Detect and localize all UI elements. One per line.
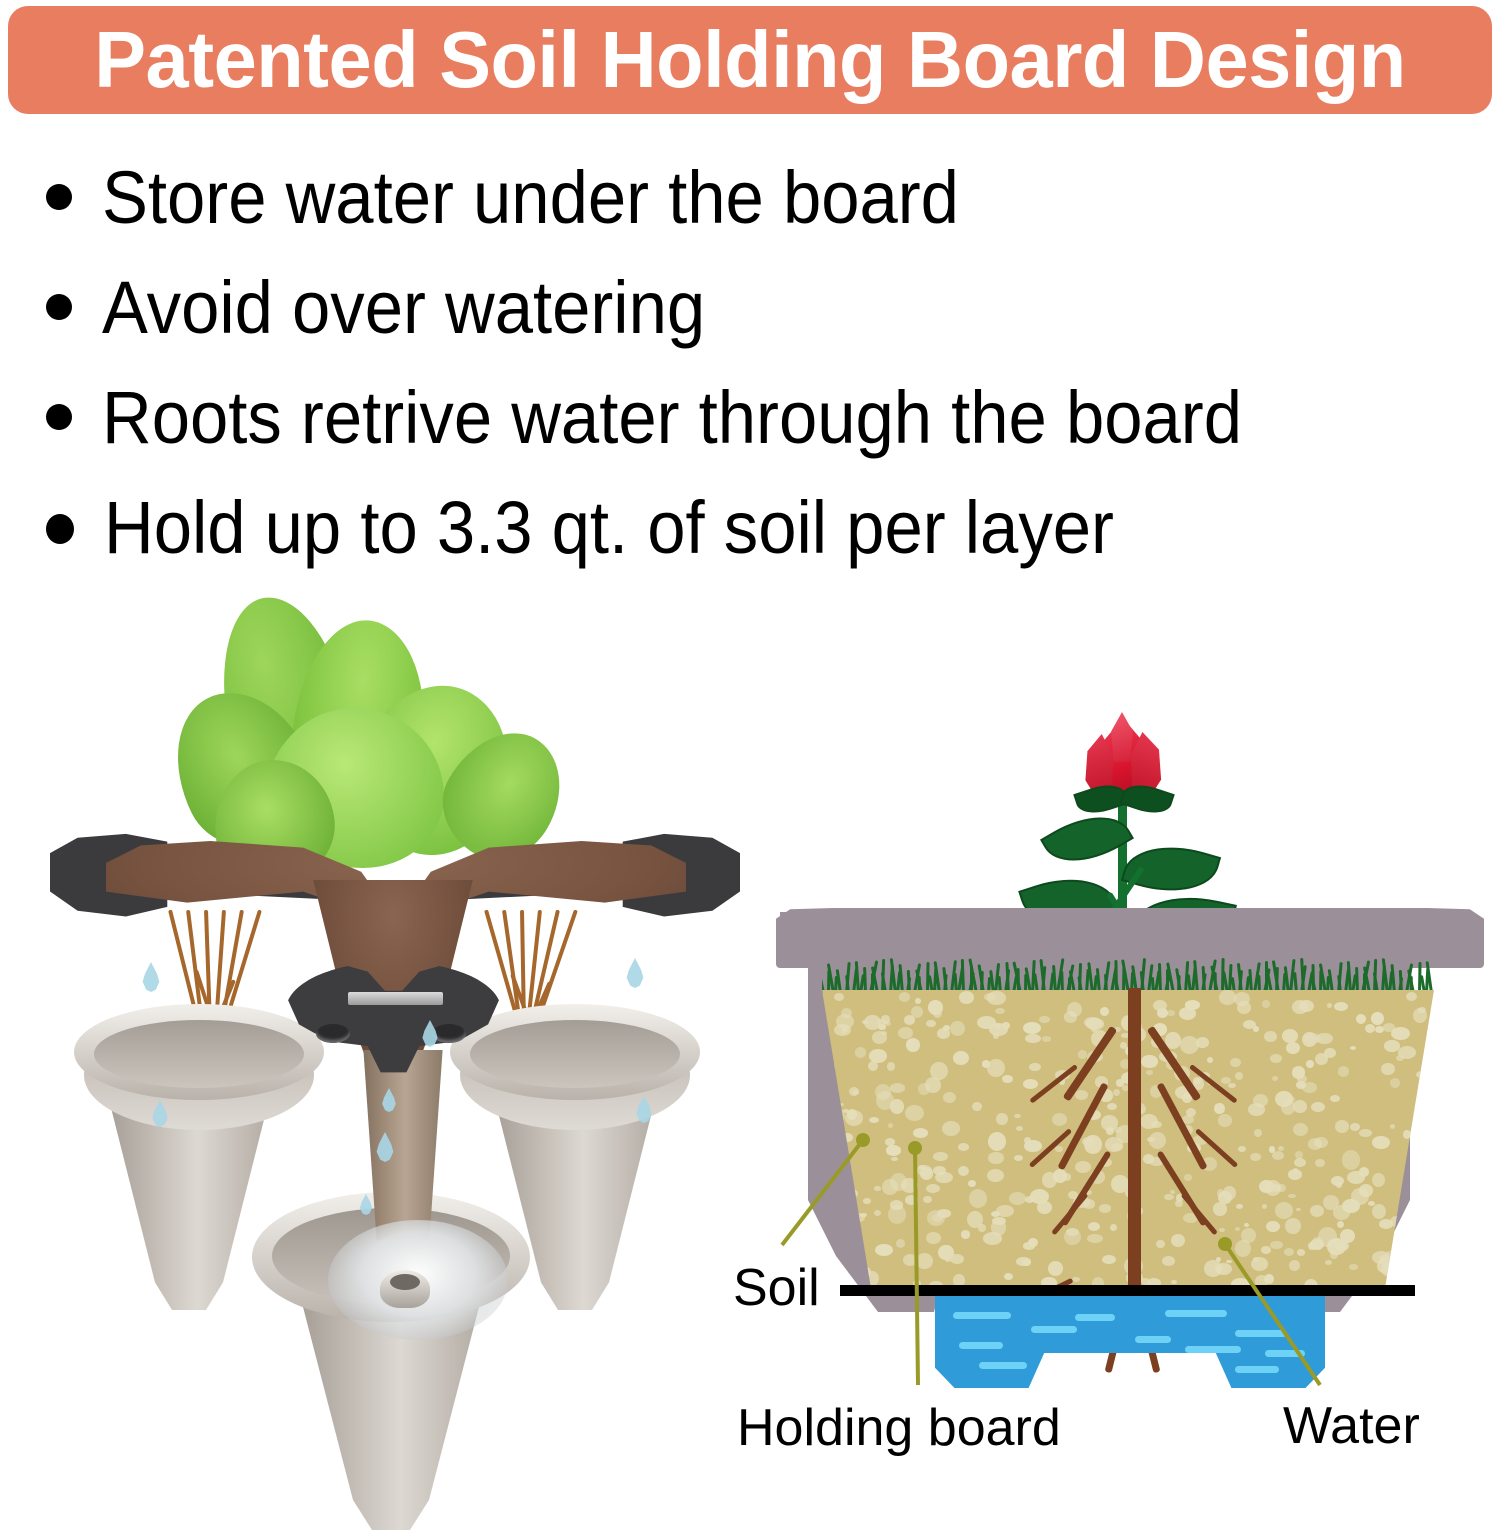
soil-grain [937,1028,950,1039]
water-wave [979,1362,1027,1369]
soil-grain [1262,1204,1267,1210]
header-banner: Patented Soil Holding Board Design [8,6,1492,114]
soil-grain [1282,1029,1298,1044]
label-holding-board: Holding board [737,1398,1061,1458]
soil-grain [1297,1075,1307,1082]
soil-grain [1315,1053,1328,1065]
soil-grain [968,1180,976,1187]
feature-text: Store water under the board [102,150,959,246]
rose-leaf [1121,833,1221,906]
soil-grain [1414,1171,1426,1183]
soil-grain [1403,1130,1411,1138]
water-wave [953,1312,1011,1319]
water-wave [1235,1366,1279,1373]
soil-grain [1306,1060,1313,1067]
soil-grain [1288,1194,1296,1199]
soil-grain [1375,1026,1384,1033]
soil-grain [1310,1205,1324,1217]
soil-grain [1334,1002,1348,1011]
soil-grain [1293,1123,1308,1136]
list-item: Store water under the board [46,150,1466,260]
soil-grain [906,1040,914,1047]
soil-grain [898,1027,913,1039]
soil-grain [1390,1078,1400,1087]
pot-cross-section-diagram [760,700,1500,1340]
soil-grain [1261,1246,1271,1254]
soil-grain [1390,1253,1402,1264]
label-water: Water [1283,1396,1420,1456]
feature-text: Avoid over watering [102,260,705,356]
soil-grain [855,1047,867,1058]
soil-grain [987,1169,1004,1182]
soil-grain [875,1244,893,1256]
soil-grain [935,1172,952,1183]
soil-grain [1315,1159,1325,1168]
soil-grain [915,998,921,1004]
water-wave [1235,1330,1287,1337]
soil-grain [1275,1202,1293,1219]
water-wave [1031,1326,1077,1333]
soil-grain [1349,1264,1358,1270]
soil-grain [1302,1032,1317,1047]
soil-grain [988,1152,1004,1165]
soil-grain [881,1031,886,1035]
stackable-planter-photo [28,580,758,1460]
grass-blade-icon [961,959,965,993]
grass-blade-icon [863,967,867,993]
soil-grain [1381,1063,1394,1075]
soil-grain [1416,1071,1427,1078]
soil-grain [1311,1102,1325,1112]
soil-grain [961,1230,970,1238]
soil-grain [1277,1184,1286,1192]
soil-grain [1350,1046,1356,1050]
soil-grain [1420,1182,1434,1202]
soil-grain [886,1145,901,1155]
board-hole-icon [316,1024,350,1043]
bullet-dot-icon [46,514,74,544]
soil-grain [885,1138,896,1146]
soil-grain [874,1186,881,1191]
soil-grain [1292,1000,1307,1013]
soil-grain [1285,1218,1301,1234]
soil-grain [1342,1150,1360,1170]
soil-grain [887,1062,896,1071]
soil-grain [1343,1199,1359,1213]
soil-grain [1338,1066,1349,1076]
soil-grain [1417,1089,1429,1101]
soil-grain [987,991,1006,1006]
water-wave [1265,1350,1305,1357]
soil-grain [1296,1208,1301,1211]
soil-grain [1289,1260,1300,1271]
soil-grain [933,1009,942,1018]
bullet-dot-icon [46,404,72,430]
soil-grain [932,1214,943,1222]
grass-blade-icon [1355,967,1359,993]
soil-grain [926,1232,941,1244]
soil-grain [1266,1221,1280,1232]
bullet-dot-icon [46,294,72,320]
soil-grain [888,1123,893,1128]
soil-grain [834,993,844,1001]
soil-grain [890,1083,905,1093]
soil-grain [1323,1195,1339,1210]
soil-grain [983,1232,1002,1245]
soil-grain [978,1224,987,1231]
soil-grain [918,1083,930,1095]
soil-grain [913,1128,928,1138]
soil-grain [1359,1184,1373,1197]
soil-grain [972,1102,981,1111]
water-wave [1135,1336,1171,1343]
soil-grain [1417,1123,1434,1139]
soil-grain [1286,1042,1300,1054]
water-wave [1165,1310,1227,1317]
soil-grain [1325,1260,1332,1265]
soil-grain [995,1023,1001,1029]
soil-grain [1372,1173,1385,1187]
soil-grain [1413,1008,1427,1023]
soil-grain [1302,1082,1318,1093]
soil-grain [1337,1221,1344,1228]
soil-grain [905,1195,918,1205]
soil-grain [1334,1241,1349,1251]
soil-grain [926,1184,940,1193]
soil-grain [1365,1024,1375,1034]
soil-grain [988,1132,1007,1151]
soil-grain [1406,992,1417,1001]
soil-grain [878,1024,885,1030]
list-item: Hold up to 3.3 qt. of soil per layer [46,480,1466,590]
soil-grain [1330,1095,1340,1102]
soil-grain [1372,1136,1389,1149]
soil-grain [849,1087,859,1096]
soil-grain [958,1143,970,1151]
soil-grain [890,1200,903,1209]
soil-grain [841,1028,846,1033]
soil-grain [917,1165,932,1175]
soil-grain [1270,1241,1283,1250]
soil-grain [1308,1138,1323,1149]
feature-text: Hold up to 3.3 qt. of soil per layer [104,480,1114,576]
soil-grain [890,1173,907,1192]
soil-grain [904,1015,916,1025]
soil-grain [1396,1055,1404,1062]
soil-grain [1293,1168,1298,1173]
holding-board-line [840,1285,1415,1296]
soil-grain [1372,1204,1386,1219]
soil-grain [1293,1100,1307,1114]
drain-hole [390,1274,420,1290]
board-hole-icon [432,1024,466,1043]
grass-blade-icon [1293,972,1298,993]
soil-grain [1297,1249,1306,1256]
soil-grain [903,1254,917,1266]
soil-grain [1272,1076,1278,1081]
soil-grain [1391,1027,1409,1040]
bullet-dot-icon [46,184,72,210]
soil-grain [869,1117,879,1123]
soil-grain [1327,1003,1332,1008]
soil-grain [995,1008,1006,1014]
soil-grain [1356,1014,1366,1024]
soil-grain [1270,1054,1282,1063]
soil-grain [916,1253,933,1269]
soil-grain [1359,1129,1372,1137]
soil-grain [869,1049,887,1063]
water-wave [1185,1346,1241,1353]
soil-grain [1384,1040,1400,1051]
board-slot [348,992,443,1005]
soil-grain [996,1113,1008,1124]
soil-grain [1419,1175,1433,1186]
water-wave [959,1342,1003,1349]
soil-grain [1347,1171,1365,1184]
soil-grain [959,991,974,1004]
soil-grain [969,1189,987,1208]
soil-grain [942,1121,960,1136]
soil-grain [890,1099,904,1114]
grass-blade-icon [977,964,984,993]
soil-grain [863,1198,870,1203]
soil-grain [905,1105,924,1121]
soil-grain [896,1239,905,1248]
label-soil: Soil [733,1258,820,1318]
page-title: Patented Soil Holding Board Design [94,20,1405,100]
soil-grain [899,992,911,1002]
soil-grain [1371,1012,1383,1025]
soil-grain [891,1157,898,1161]
soil-grain [933,1152,948,1162]
list-item: Avoid over watering [46,260,1466,370]
soil-grain [874,1210,882,1217]
soil-grain [953,1051,969,1065]
feature-text: Roots retrive water through the board [102,370,1242,466]
soil-grain [1330,1251,1338,1259]
soil-grain [1331,1176,1344,1186]
soil-grain [950,1254,965,1265]
soil-grain [1284,1248,1295,1256]
soil-grain [1335,1120,1349,1133]
soil-grain [943,1092,957,1104]
soil-grain [958,1166,969,1176]
soil-grain [1316,1033,1333,1044]
soil-grain [1390,1124,1395,1129]
soil-grain [1264,1031,1277,1043]
grass-blade-icon [1272,960,1280,993]
feature-list: Store water under the board Avoid over w… [46,150,1466,590]
soil-grain [1272,1151,1284,1160]
soil-grain [1294,1158,1306,1167]
list-item: Roots retrive water through the board [46,370,1466,480]
soil-grain [1262,1000,1270,1008]
soil-grain [845,1110,864,1126]
soil-grain [926,1020,935,1027]
soil-grain [982,1060,990,1067]
soil-grain [923,1196,932,1203]
water-wave [1075,1314,1115,1321]
soil-grain [1421,1085,1434,1102]
soil-grain [950,1021,965,1037]
soil-grain [987,1059,1005,1077]
soil-grain [1264,1274,1274,1285]
